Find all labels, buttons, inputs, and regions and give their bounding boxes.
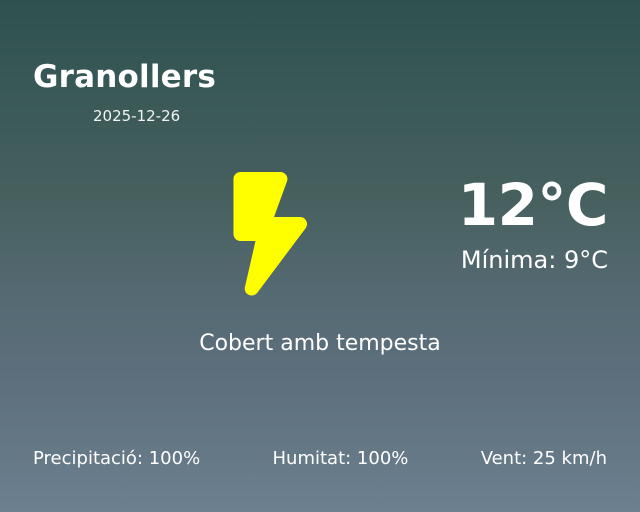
condition-description: Cobert amb tempesta	[0, 333, 640, 355]
city-name: Granollers	[33, 62, 216, 93]
weather-widget: Granollers 2025-12-26 12°C Mínima: 9°C C…	[0, 0, 640, 512]
weather-icon	[222, 164, 314, 304]
stat-humidity: Humitat: 100%	[273, 450, 409, 468]
stat-precipitation: Precipitació: 100%	[33, 450, 200, 468]
lightning-bolt-icon	[222, 164, 314, 304]
current-temperature: 12°C	[458, 176, 608, 234]
weather-stats: Precipitació: 100% Humitat: 100% Vent: 2…	[33, 450, 607, 468]
forecast-date: 2025-12-26	[93, 109, 180, 124]
minimum-temperature: Mínima: 9°C	[458, 248, 608, 272]
stat-wind: Vent: 25 km/h	[481, 450, 607, 468]
temperature-block: 12°C Mínima: 9°C	[458, 176, 608, 272]
